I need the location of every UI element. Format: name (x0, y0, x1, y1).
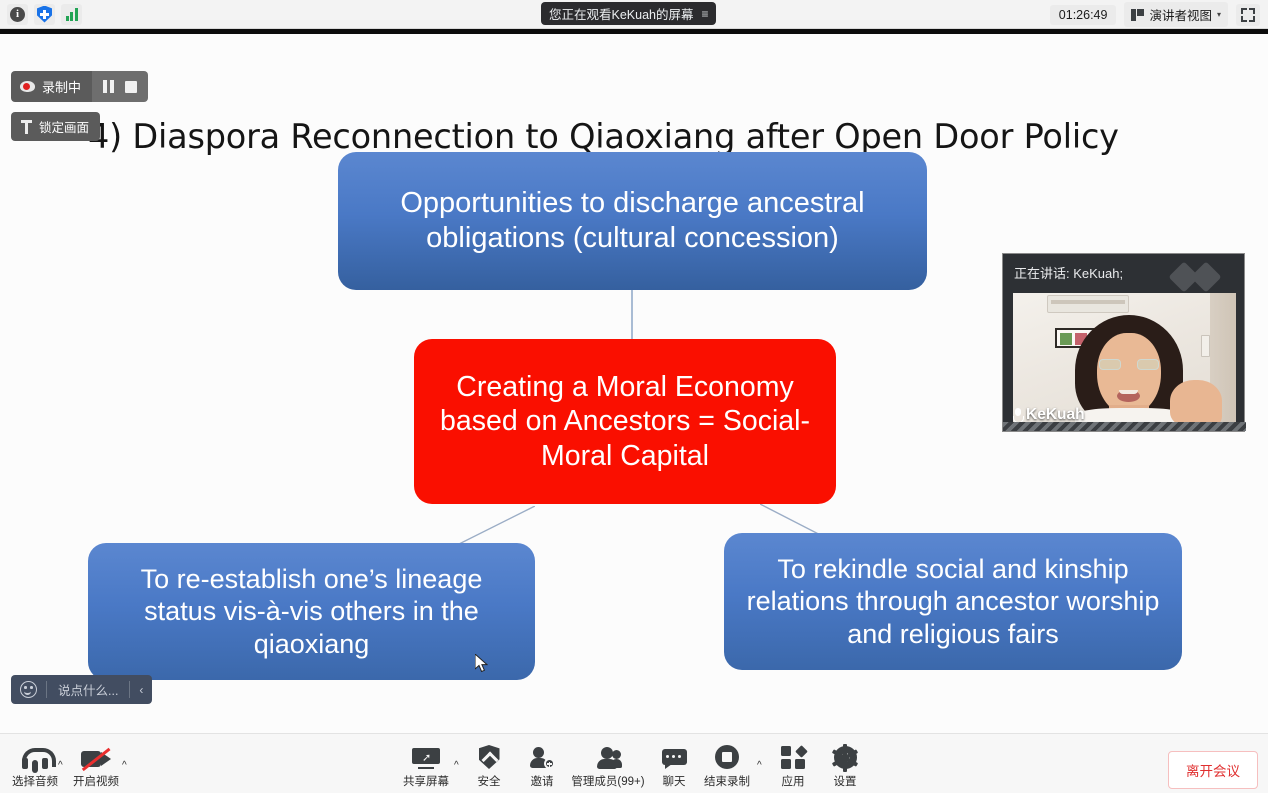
network-signal-icon[interactable] (61, 4, 82, 25)
toolbar-item-manage-participants-label: 管理成员(99+) (571, 773, 644, 789)
info-icon[interactable]: i (7, 4, 28, 25)
headset-icon (22, 743, 48, 769)
toolbar-item-video[interactable]: 开启视频 (64, 743, 128, 789)
chevron-down-icon: ▾ (1217, 10, 1221, 19)
zoom-logo (1171, 264, 1231, 286)
add-person-icon (530, 743, 555, 769)
toolbar-item-apps-label: 应用 (782, 773, 805, 789)
diagram-node-lineage-status-text: To re-establish one’s lineage status vis… (88, 563, 535, 660)
top-bar-right-group: 01:26:49 演讲者视图 ▾ (1050, 0, 1260, 29)
gear-icon (834, 743, 857, 769)
smiley-icon[interactable] (20, 681, 37, 698)
zoom-meeting-window: i 您正在观看KeKuah的屏幕 ≡ 01:26:49 演讲者视图 ▾ 4) D… (0, 0, 1268, 793)
chat-bubble-icon (662, 743, 687, 769)
wall-switch (1201, 335, 1210, 357)
diagram-node-opportunities: Opportunities to discharge ancestral obl… (338, 152, 927, 290)
top-bar: i 您正在观看KeKuah的屏幕 ≡ 01:26:49 演讲者视图 ▾ (0, 0, 1268, 29)
speaking-label: 正在讲话: KeKuah; (1014, 266, 1123, 281)
toolbar-item-chat-label: 聊天 (663, 773, 686, 789)
toolbar-item-audio-label: 选择音频 (12, 773, 58, 789)
pin-icon (21, 120, 32, 134)
speaking-indicator: 正在讲话: KeKuah; (1003, 254, 1244, 293)
speaker-video-thumbnail[interactable]: 正在讲话: KeKuah; (1002, 253, 1245, 432)
toolbar-item-stop-recording[interactable]: 结束录制 (695, 743, 759, 789)
share-screen-icon: ➚ (412, 743, 440, 769)
recording-status: 录制中 (11, 71, 92, 102)
toolbar-item-share-screen[interactable]: ➚ 共享屏幕 (394, 743, 458, 789)
stop-record-icon (715, 743, 739, 769)
viewing-notice-text: 您正在观看KeKuah的屏幕 (549, 4, 693, 23)
microphone-icon (1013, 408, 1022, 422)
toolbar-item-video-label: 开启视频 (73, 773, 119, 789)
meeting-timer: 01:26:49 (1050, 5, 1117, 25)
toolbar-item-settings[interactable]: 设置 (813, 743, 877, 789)
recording-buttons (92, 71, 148, 102)
camera-off-icon (81, 743, 111, 769)
video-bottom-stripe (1003, 422, 1246, 431)
mouse-cursor (475, 654, 488, 673)
stop-recording-icon[interactable] (125, 81, 137, 93)
diagram-node-kinship-relations: To rekindle social and kinship relations… (724, 533, 1182, 670)
video-options-chevron-icon[interactable]: ^ (122, 760, 127, 771)
lock-screen-tooltip[interactable]: 锁定画面 (11, 112, 100, 141)
toolbar-item-manage-participants[interactable]: 管理成员(99+) (563, 743, 653, 789)
apps-grid-icon (781, 743, 805, 769)
diagram-node-moral-economy: Creating a Moral Economy based on Ancest… (414, 339, 836, 504)
view-mode-label: 演讲者视图 (1149, 5, 1212, 24)
exit-fullscreen-icon[interactable] (1236, 4, 1260, 26)
recording-cloud-icon (20, 81, 35, 92)
recording-control-bar: 录制中 (11, 71, 148, 102)
toolbar-item-settings-label: 设置 (834, 773, 857, 789)
connector-top-to-center (631, 286, 633, 344)
chat-input[interactable]: 说点什么... (47, 680, 129, 699)
air-conditioner (1047, 295, 1129, 313)
recording-status-label: 录制中 (42, 77, 81, 96)
shared-screen-content: 4) Diaspora Reconnection to Qiaoxiang af… (0, 34, 1268, 733)
eyeglass-left (1099, 359, 1121, 370)
collapse-chat-icon[interactable]: ‹ (130, 683, 152, 697)
meeting-toolbar: 选择音频 ^ 开启视频 ^ ➚ 共享屏幕 ^ 安全 邀请 (0, 733, 1268, 793)
quick-chat-bar[interactable]: 说点什么... ‹ (11, 675, 152, 704)
people-icon (595, 743, 622, 769)
toolbar-item-stop-recording-label: 结束录制 (704, 773, 750, 789)
participant-hand (1170, 380, 1222, 426)
toolbar-item-invite-label: 邀请 (531, 773, 554, 789)
viewing-options-menu-icon[interactable]: ≡ (701, 7, 707, 21)
top-bar-icon-group: i (0, 4, 82, 25)
diagram-node-opportunities-text: Opportunities to discharge ancestral obl… (338, 186, 927, 256)
shield-icon (479, 743, 500, 769)
participant-face (1097, 333, 1161, 415)
diagram-node-kinship-relations-text: To rekindle social and kinship relations… (724, 553, 1182, 650)
audio-options-chevron-icon[interactable]: ^ (58, 760, 63, 771)
view-mode-selector[interactable]: 演讲者视图 ▾ (1124, 2, 1228, 27)
page-title: 4) Diaspora Reconnection to Qiaoxiang af… (88, 117, 1178, 156)
eyeglass-right (1137, 359, 1159, 370)
viewing-screen-notice[interactable]: 您正在观看KeKuah的屏幕 ≡ (541, 2, 716, 25)
diagram-node-lineage-status: To re-establish one’s lineage status vis… (88, 543, 535, 680)
lock-screen-label: 锁定画面 (39, 117, 89, 136)
participant-mouth (1117, 390, 1140, 402)
diagram-node-moral-economy-text: Creating a Moral Economy based on Ancest… (414, 370, 836, 473)
speaker-view-icon (1131, 9, 1144, 21)
security-shield-icon[interactable] (34, 4, 55, 25)
pause-recording-icon[interactable] (103, 80, 114, 93)
toolbar-item-security-label: 安全 (478, 773, 501, 789)
connector-center-to-left (455, 506, 535, 546)
toolbar-item-share-screen-label: 共享屏幕 (403, 773, 449, 789)
leave-meeting-button[interactable]: 离开会议 (1168, 751, 1258, 789)
